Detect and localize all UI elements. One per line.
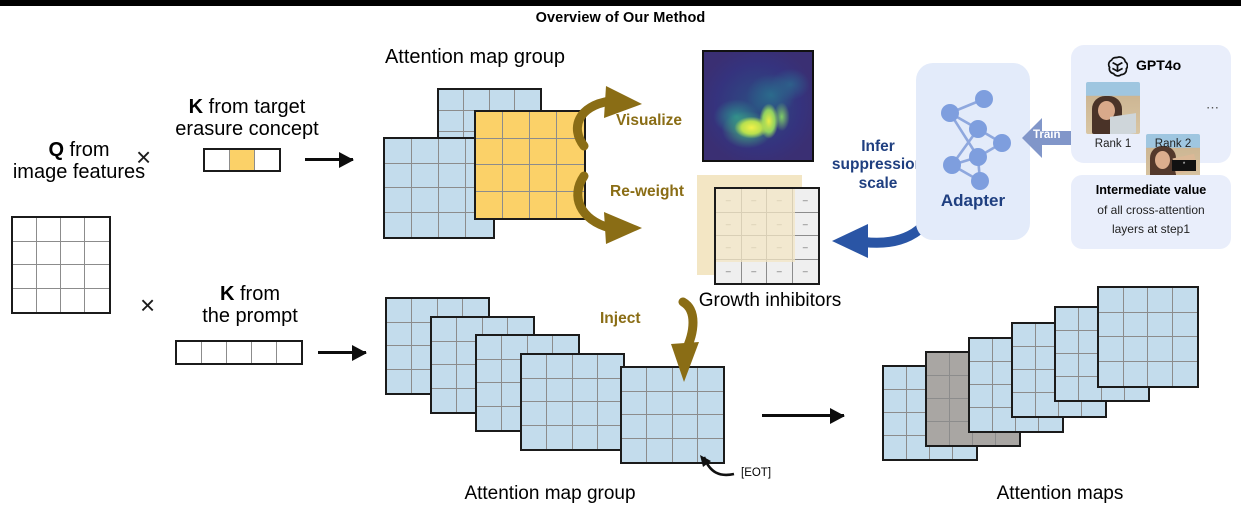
grid-cell <box>970 339 993 362</box>
k-target-label-bold: K <box>189 96 203 118</box>
output-group-caption: Attention maps <box>930 483 1190 504</box>
grid-cell <box>622 415 647 439</box>
grid-cell: – <box>767 236 793 260</box>
grid-cell <box>1099 362 1124 387</box>
grid-cell: – <box>742 213 768 237</box>
censor-bar-1 <box>1172 160 1196 171</box>
intermediate-title: Intermediate value <box>1071 183 1231 197</box>
multiply-symbol-bottom: × <box>140 290 155 321</box>
grid-cell <box>1013 393 1036 416</box>
grid-cell <box>970 385 993 408</box>
grid-cell <box>477 383 502 407</box>
grid-cell <box>1099 337 1124 362</box>
grid-cell <box>1099 288 1124 313</box>
grid-cell: – <box>716 189 742 213</box>
visualize-label: Visualize <box>616 112 682 130</box>
grid-cell <box>884 436 907 459</box>
grid-cell <box>1173 313 1198 338</box>
k-target-label-line2: erasure concept <box>152 118 342 140</box>
k-prompt-vector <box>175 340 303 365</box>
grid-cell <box>1124 362 1149 387</box>
grid-cell <box>387 346 412 370</box>
grid-cell <box>1148 313 1173 338</box>
k-prompt-cell <box>277 342 301 363</box>
grid-cell: – <box>793 236 819 260</box>
grid-cell <box>1148 337 1173 362</box>
grid-cell <box>884 367 907 390</box>
grid-cell: – <box>767 189 793 213</box>
grid-cell <box>622 392 647 416</box>
grid-cell <box>432 318 457 342</box>
grid-cell <box>476 139 503 166</box>
grid-cell <box>970 362 993 385</box>
grid-cell <box>530 192 557 219</box>
adapter-label: Adapter <box>916 191 1030 211</box>
grid-cell <box>927 422 950 445</box>
arrow-to-top-group <box>305 158 353 161</box>
grid-cell <box>85 265 109 289</box>
bottom-group-caption: Attention map group <box>400 483 700 504</box>
grid-cell <box>515 90 540 111</box>
grid-cell <box>927 376 950 399</box>
page-title: Overview of Our Method <box>0 10 1241 26</box>
grid-cell <box>1013 324 1036 347</box>
grid-cell <box>477 407 502 431</box>
grid-cell <box>530 112 557 139</box>
grid-cell <box>647 439 672 463</box>
intermediate-line3: layers at step1 <box>1071 222 1231 236</box>
grid-cell <box>61 218 85 242</box>
grid-cell <box>13 218 37 242</box>
grid-cell <box>37 218 61 242</box>
grid-cell <box>385 164 412 189</box>
arrow-to-output <box>762 414 844 417</box>
grid-cell <box>385 188 412 213</box>
grid-cell <box>387 370 412 394</box>
grid-cell <box>61 265 85 289</box>
grid-cell <box>85 242 109 266</box>
q-matrix-grid <box>11 216 111 314</box>
grid-cell: – <box>793 260 819 284</box>
grid-cell <box>622 368 647 392</box>
grid-cell <box>1099 313 1124 338</box>
inject-arrow <box>655 296 715 394</box>
grid-cell <box>37 242 61 266</box>
grid-cell <box>698 392 723 416</box>
grid-cell <box>37 265 61 289</box>
grid-cell <box>647 392 672 416</box>
grid-cell <box>1173 362 1198 387</box>
grid-cell <box>547 426 572 450</box>
grid-cell <box>884 390 907 413</box>
gpt-ellipsis: ⋯ <box>1206 100 1220 116</box>
q-label-bold: Q <box>48 139 64 161</box>
arrow-to-bottom-group <box>318 351 366 354</box>
grid-cell <box>490 90 515 111</box>
grid-cell <box>412 188 439 213</box>
grid-cell: – <box>767 213 793 237</box>
grid-cell <box>698 415 723 439</box>
grid-cell <box>61 242 85 266</box>
grid-cell <box>1124 337 1149 362</box>
intermediate-line2: of all cross-attention <box>1071 203 1231 217</box>
grid-cell <box>522 426 547 450</box>
grid-cell <box>1173 337 1198 362</box>
grid-cell <box>13 265 37 289</box>
grid-cell <box>503 139 530 166</box>
grid-cell <box>387 299 412 323</box>
k-target-label: K from target erasure concept <box>152 96 342 141</box>
grid-cell: – <box>716 236 742 260</box>
grid-cell: – <box>767 260 793 284</box>
grid-cell <box>476 165 503 192</box>
bottom-map-4 <box>520 353 625 451</box>
q-label: Q from image features <box>4 139 154 184</box>
grid-cell <box>573 402 598 426</box>
k-prompt-cell <box>227 342 252 363</box>
k-prompt-label: K from the prompt <box>170 283 330 328</box>
grid-cell <box>412 164 439 189</box>
gpt4o-brand: GPT4o <box>1136 57 1181 73</box>
inject-label: Inject <box>600 310 640 328</box>
output-map-6 <box>1097 286 1199 388</box>
grid-cell <box>476 192 503 219</box>
k-prompt-label-rest: from <box>234 283 280 305</box>
grid-cell <box>503 192 530 219</box>
grid-cell <box>477 336 502 360</box>
grid-cell <box>1056 354 1079 377</box>
grid-cell <box>439 164 466 189</box>
grid-cell: – <box>716 213 742 237</box>
grid-cell <box>522 402 547 426</box>
grid-cell <box>1148 362 1173 387</box>
grid-cell <box>1013 370 1036 393</box>
top-rule <box>0 0 1241 6</box>
grid-cell <box>622 439 647 463</box>
k-target-cell-highlighted <box>230 150 255 170</box>
train-label: Train <box>1033 129 1060 141</box>
grid-cell <box>970 408 993 431</box>
k-prompt-cell <box>177 342 202 363</box>
rank2-caption: Rank 2 <box>1146 138 1200 150</box>
k-target-vector <box>203 148 281 172</box>
grid-cell <box>573 355 598 379</box>
grid-cell <box>547 379 572 403</box>
k-target-label-rest: from target <box>203 96 305 118</box>
growth-inhibitors-grid: –––––––––––––––– <box>714 187 820 285</box>
q-label-rest: from <box>64 139 110 161</box>
grid-cell <box>439 90 464 111</box>
grid-cell <box>1124 288 1149 313</box>
grid-cell <box>385 139 412 164</box>
k-prompt-label-line2: the prompt <box>170 305 330 327</box>
grid-cell <box>412 139 439 164</box>
grid-cell <box>573 426 598 450</box>
k-prompt-cell <box>202 342 227 363</box>
grid-cell <box>647 415 672 439</box>
eot-pointer <box>700 455 746 485</box>
grid-cell <box>927 353 950 376</box>
grid-cell <box>673 392 698 416</box>
grid-cell <box>673 415 698 439</box>
grid-cell <box>522 355 547 379</box>
grid-cell <box>1056 377 1079 400</box>
rank1-thumbnail <box>1086 82 1140 134</box>
grid-cell <box>503 165 530 192</box>
eot-label: [EOT] <box>741 467 771 479</box>
multiply-symbol-top: × <box>136 142 151 173</box>
grid-cell <box>432 389 457 413</box>
grid-cell <box>476 112 503 139</box>
grid-cell <box>503 112 530 139</box>
grid-cell <box>673 439 698 463</box>
grid-cell <box>1056 308 1079 331</box>
top-group-caption: Attention map group <box>330 46 620 68</box>
rank1-caption: Rank 1 <box>1086 138 1140 150</box>
grid-cell <box>61 289 85 313</box>
grid-cell <box>927 399 950 422</box>
grid-cell <box>432 342 457 366</box>
neural-network-icon <box>930 85 1020 195</box>
grid-cell <box>432 365 457 389</box>
openai-logo-icon <box>1106 55 1128 77</box>
grid-cell <box>85 289 109 313</box>
grid-cell <box>1124 313 1149 338</box>
grid-cell: – <box>742 236 768 260</box>
grid-cell <box>477 360 502 384</box>
reweight-label: Re-weight <box>610 183 684 201</box>
grid-cell <box>530 165 557 192</box>
grid-cell <box>573 379 598 403</box>
grid-cell <box>439 139 466 164</box>
grid-cell <box>439 188 466 213</box>
k-prompt-label-bold: K <box>220 283 234 305</box>
q-label-line2: image features <box>4 161 154 183</box>
grid-cell <box>547 402 572 426</box>
grid-cell <box>439 213 466 238</box>
attention-heatmap <box>702 50 814 162</box>
k-target-cell <box>255 150 279 170</box>
k-target-cell <box>205 150 230 170</box>
grid-cell <box>522 379 547 403</box>
grid-cell <box>464 90 489 111</box>
grid-cell <box>412 213 439 238</box>
grid-cell <box>530 139 557 166</box>
grid-cell <box>884 413 907 436</box>
grid-cell <box>547 355 572 379</box>
grid-cell: – <box>793 189 819 213</box>
grid-cell <box>1148 288 1173 313</box>
grid-cell <box>1056 331 1079 354</box>
grid-cell: – <box>716 260 742 284</box>
grid-cell <box>1173 288 1198 313</box>
grid-cell <box>13 242 37 266</box>
grid-cell <box>37 289 61 313</box>
k-prompt-cell <box>252 342 277 363</box>
grid-cell <box>1013 347 1036 370</box>
grid-cell <box>13 289 37 313</box>
grid-cell: – <box>742 260 768 284</box>
grid-cell <box>385 213 412 238</box>
grid-cell: – <box>793 213 819 237</box>
grid-cell: – <box>742 189 768 213</box>
grid-cell <box>85 218 109 242</box>
grid-cell <box>387 323 412 347</box>
grid-cell <box>439 111 464 132</box>
